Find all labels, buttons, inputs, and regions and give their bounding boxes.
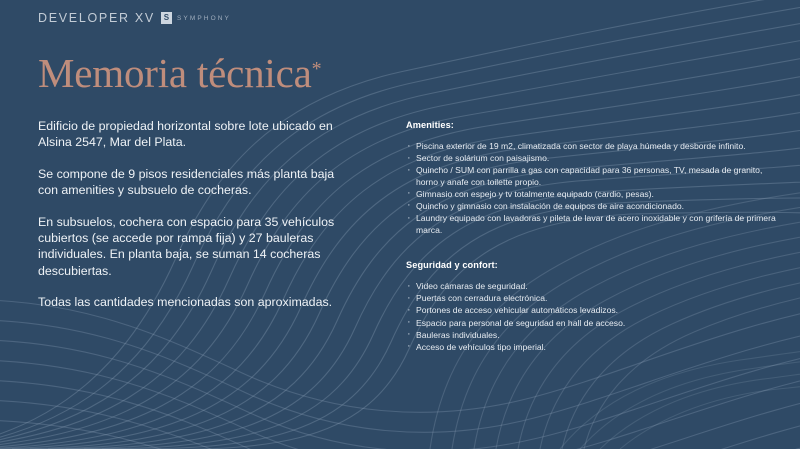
list-item: Portones de acceso vehicular automáticos… [406, 305, 776, 317]
security-list: Video cámaras de seguridad. Puertas con … [406, 281, 776, 353]
list-item: Piscina exterior de 19 m2, climatizada c… [406, 141, 776, 153]
list-item: Puertas con cerradura electrónica. [406, 293, 776, 305]
description-paragraph: Todas las cantidades mencionadas son apr… [38, 294, 353, 310]
brand-badge-icon: S [161, 12, 172, 24]
slide-canvas: DEVELOPER XV S SYMPHONY Memoria técnica*… [0, 0, 800, 449]
list-item: Gimnasio con espejo y tv totalmente equi… [406, 189, 776, 201]
list-item: Quincho / SUM con parrilla a gas con cap… [406, 165, 776, 188]
list-item: Espacio para personal de seguridad en ha… [406, 318, 776, 330]
brand-subtitle: SYMPHONY [177, 15, 231, 22]
list-item: Acceso de vehículos tipo imperial. [406, 342, 776, 354]
description-paragraph: Edificio de propiedad horizontal sobre l… [38, 118, 353, 151]
description-paragraph: En subsuelos, cochera con espacio para 3… [38, 214, 353, 280]
list-item: Video cámaras de seguridad. [406, 281, 776, 293]
amenities-list: Piscina exterior de 19 m2, climatizada c… [406, 141, 776, 236]
brand-name: DEVELOPER XV [38, 11, 155, 25]
page-title-asterisk: * [312, 58, 322, 80]
slide-content: DEVELOPER XV S SYMPHONY Memoria técnica*… [0, 0, 800, 449]
page-title: Memoria técnica* [38, 52, 322, 95]
description-paragraph: Se compone de 9 pisos residenciales más … [38, 166, 353, 199]
brand-logo: DEVELOPER XV S SYMPHONY [38, 11, 231, 25]
page-title-text: Memoria técnica [38, 50, 312, 96]
list-item: Quincho y gimnasio con instalación de eq… [406, 201, 776, 213]
list-item: Bauleras individuales. [406, 330, 776, 342]
features-column: Amenities: Piscina exterior de 19 m2, cl… [406, 120, 776, 354]
list-item: Sector de solárium con paisajismo. [406, 153, 776, 165]
security-heading: Seguridad y confort: [406, 260, 776, 270]
list-item: Laundry equipado con lavadoras y pileta … [406, 213, 776, 236]
description-column: Edificio de propiedad horizontal sobre l… [38, 118, 353, 311]
amenities-heading: Amenities: [406, 120, 776, 130]
